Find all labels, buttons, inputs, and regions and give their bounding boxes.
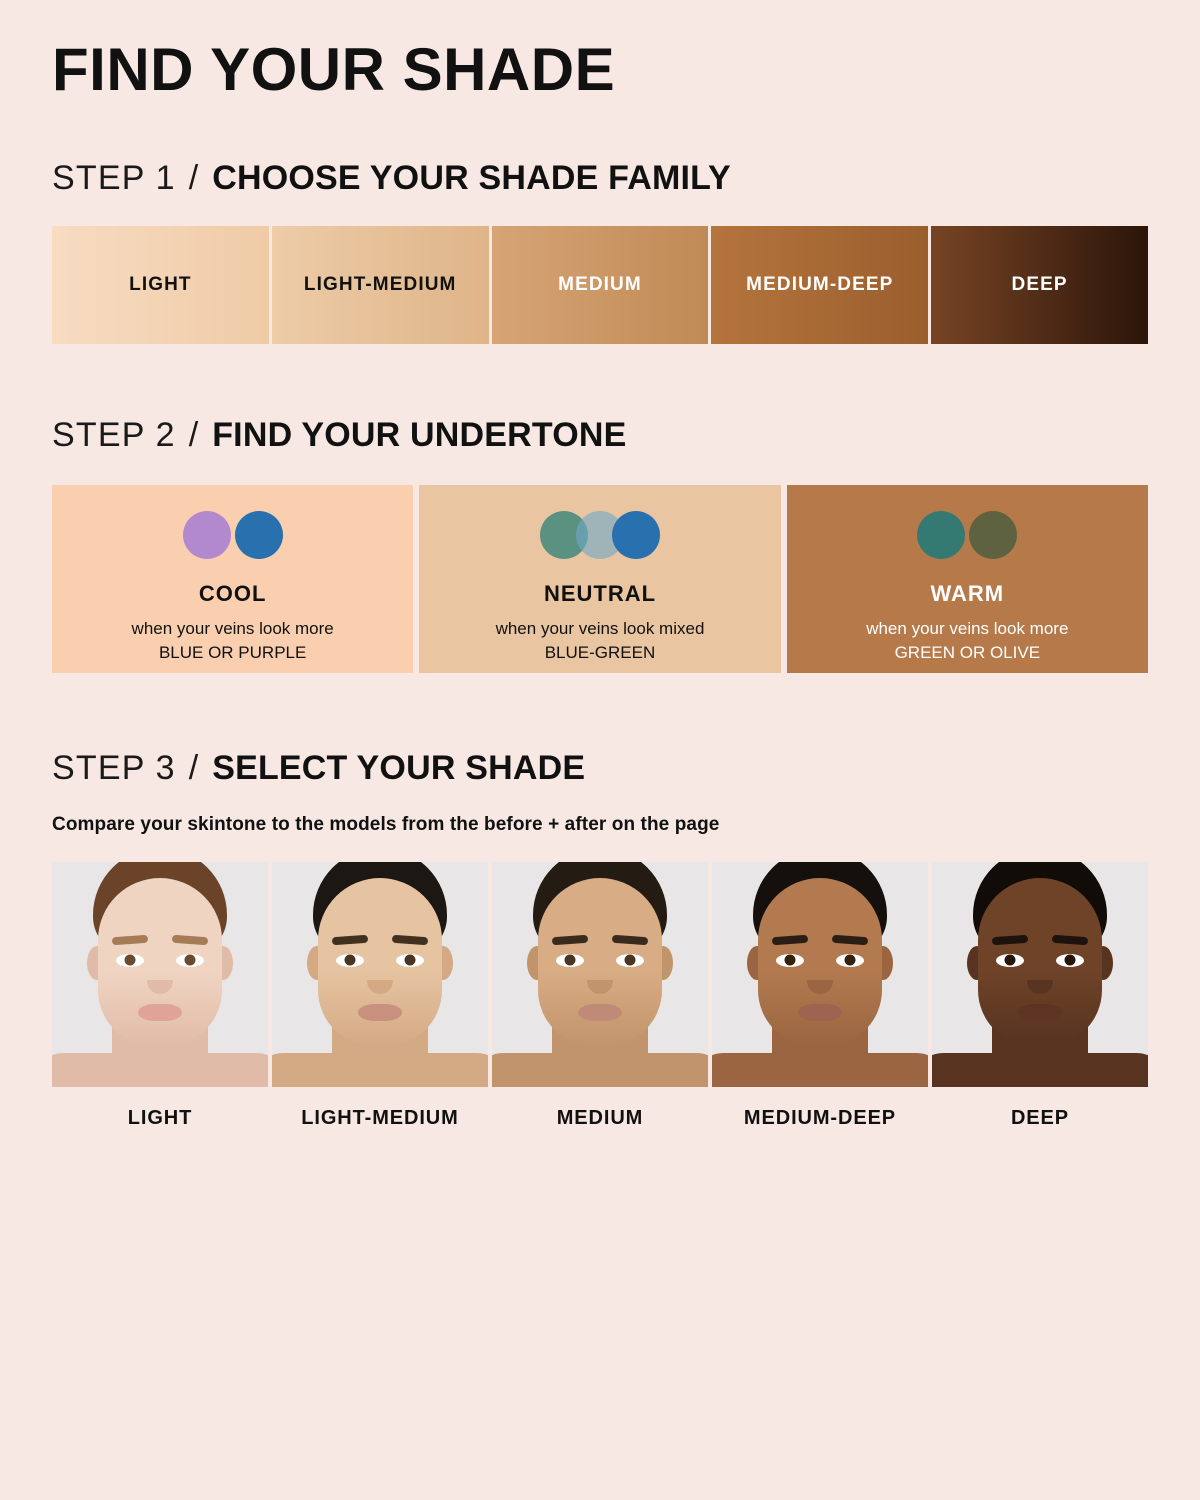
shade-swatch-label: LIGHT-MEDIUM xyxy=(304,274,457,296)
model-label-row: LIGHTLIGHT-MEDIUMMEDIUMMEDIUM-DEEPDEEP xyxy=(52,1087,1148,1130)
undertone-dot-icon xyxy=(612,511,660,559)
model-photo-row xyxy=(52,862,1148,1087)
model-iris-right xyxy=(625,955,636,966)
shade-swatch-label: MEDIUM xyxy=(558,274,642,296)
model-photo-medium[interactable] xyxy=(492,862,708,1087)
model-eye-left xyxy=(116,954,144,967)
page-title: FIND YOUR SHADE xyxy=(52,0,1148,103)
model-eye-right xyxy=(616,954,644,967)
undertone-description: when your veins look moreGREEN OR OLIVE xyxy=(866,617,1068,665)
undertone-description-line1: when your veins look more xyxy=(132,617,334,641)
compare-note: Compare your skintone to the models from… xyxy=(52,814,1148,836)
undertone-dot-icon xyxy=(235,511,283,559)
model-face-illustration xyxy=(712,862,928,1087)
undertone-dot-icon xyxy=(183,511,231,559)
step2-label: STEP 2 xyxy=(52,416,176,455)
model-iris-left xyxy=(125,955,136,966)
model-iris-right xyxy=(1065,955,1076,966)
undertone-name: COOL xyxy=(199,581,267,607)
shade-swatch-label: DEEP xyxy=(1012,274,1068,296)
shade-swatch-deep[interactable]: DEEP xyxy=(931,226,1148,344)
model-photo-light-medium[interactable] xyxy=(272,862,488,1087)
model-eye-right xyxy=(176,954,204,967)
model-eye-right xyxy=(396,954,424,967)
step3-heading: STEP 3 / SELECT YOUR SHADE xyxy=(52,673,1148,788)
undertone-dots xyxy=(917,511,1017,559)
model-eye-right xyxy=(836,954,864,967)
model-label: DEEP xyxy=(932,1107,1148,1130)
model-label: LIGHT xyxy=(52,1107,268,1130)
model-lips xyxy=(578,1004,622,1021)
undertone-card-warm[interactable]: WARMwhen your veins look moreGREEN OR OL… xyxy=(787,485,1148,673)
undertone-description-line2: BLUE-GREEN xyxy=(496,641,705,665)
step1-label: STEP 1 xyxy=(52,159,176,198)
undertone-card-cool[interactable]: COOLwhen your veins look moreBLUE OR PUR… xyxy=(52,485,413,673)
model-label: MEDIUM xyxy=(492,1107,708,1130)
model-lips xyxy=(358,1004,402,1021)
model-iris-right xyxy=(405,955,416,966)
shade-swatch-light[interactable]: LIGHT xyxy=(52,226,269,344)
undertone-name: NEUTRAL xyxy=(544,581,656,607)
model-eye-left xyxy=(336,954,364,967)
model-iris-right xyxy=(185,955,196,966)
step1-heading: STEP 1 / CHOOSE YOUR SHADE FAMILY xyxy=(52,103,1148,198)
model-face-illustration xyxy=(52,862,268,1087)
step3-label: STEP 3 xyxy=(52,749,176,788)
undertone-dot-icon xyxy=(969,511,1017,559)
step3-separator: / xyxy=(189,749,198,788)
undertone-description: when your veins look moreBLUE OR PURPLE xyxy=(132,617,334,665)
model-iris-right xyxy=(845,955,856,966)
model-lips xyxy=(1018,1004,1062,1021)
shade-swatch-label: LIGHT xyxy=(129,274,192,296)
model-photo-deep[interactable] xyxy=(932,862,1148,1087)
model-face-illustration xyxy=(932,862,1148,1087)
step1-title: CHOOSE YOUR SHADE FAMILY xyxy=(212,159,731,198)
undertone-description: when your veins look mixedBLUE-GREEN xyxy=(496,617,705,665)
model-iris-left xyxy=(1005,955,1016,966)
undertone-name: WARM xyxy=(930,581,1004,607)
step3-title: SELECT YOUR SHADE xyxy=(212,749,585,788)
step2-separator: / xyxy=(189,416,198,455)
undertone-dot-icon xyxy=(917,511,965,559)
undertone-dots xyxy=(540,511,660,559)
shade-finder-page: FIND YOUR SHADE STEP 1 / CHOOSE YOUR SHA… xyxy=(0,0,1200,1500)
model-iris-left xyxy=(345,955,356,966)
model-lips xyxy=(138,1004,182,1021)
model-label: LIGHT-MEDIUM xyxy=(272,1107,488,1130)
model-lips xyxy=(798,1004,842,1021)
model-eye-left xyxy=(996,954,1024,967)
undertone-description-line1: when your veins look more xyxy=(866,617,1068,641)
shade-swatch-light-medium[interactable]: LIGHT-MEDIUM xyxy=(272,226,489,344)
model-eye-right xyxy=(1056,954,1084,967)
shade-swatch-medium[interactable]: MEDIUM xyxy=(492,226,709,344)
model-eye-left xyxy=(776,954,804,967)
model-iris-left xyxy=(565,955,576,966)
undertone-card-neutral[interactable]: NEUTRALwhen your veins look mixedBLUE-GR… xyxy=(419,485,780,673)
undertone-cards: COOLwhen your veins look moreBLUE OR PUR… xyxy=(52,485,1148,673)
model-face-illustration xyxy=(272,862,488,1087)
shade-family-bar: LIGHTLIGHT-MEDIUMMEDIUMMEDIUM-DEEPDEEP xyxy=(52,226,1148,344)
step2-title: FIND YOUR UNDERTONE xyxy=(212,416,626,455)
shade-swatch-medium-deep[interactable]: MEDIUM-DEEP xyxy=(711,226,928,344)
model-iris-left xyxy=(785,955,796,966)
undertone-description-line2: BLUE OR PURPLE xyxy=(132,641,334,665)
shade-swatch-label: MEDIUM-DEEP xyxy=(746,274,893,296)
step1-separator: / xyxy=(189,159,198,198)
step2-heading: STEP 2 / FIND YOUR UNDERTONE xyxy=(52,344,1148,455)
model-eye-left xyxy=(556,954,584,967)
model-photo-light[interactable] xyxy=(52,862,268,1087)
model-photo-medium-deep[interactable] xyxy=(712,862,928,1087)
undertone-dots xyxy=(183,511,283,559)
model-face-illustration xyxy=(492,862,708,1087)
undertone-description-line2: GREEN OR OLIVE xyxy=(866,641,1068,665)
model-label: MEDIUM-DEEP xyxy=(712,1107,928,1130)
undertone-description-line1: when your veins look mixed xyxy=(496,617,705,641)
